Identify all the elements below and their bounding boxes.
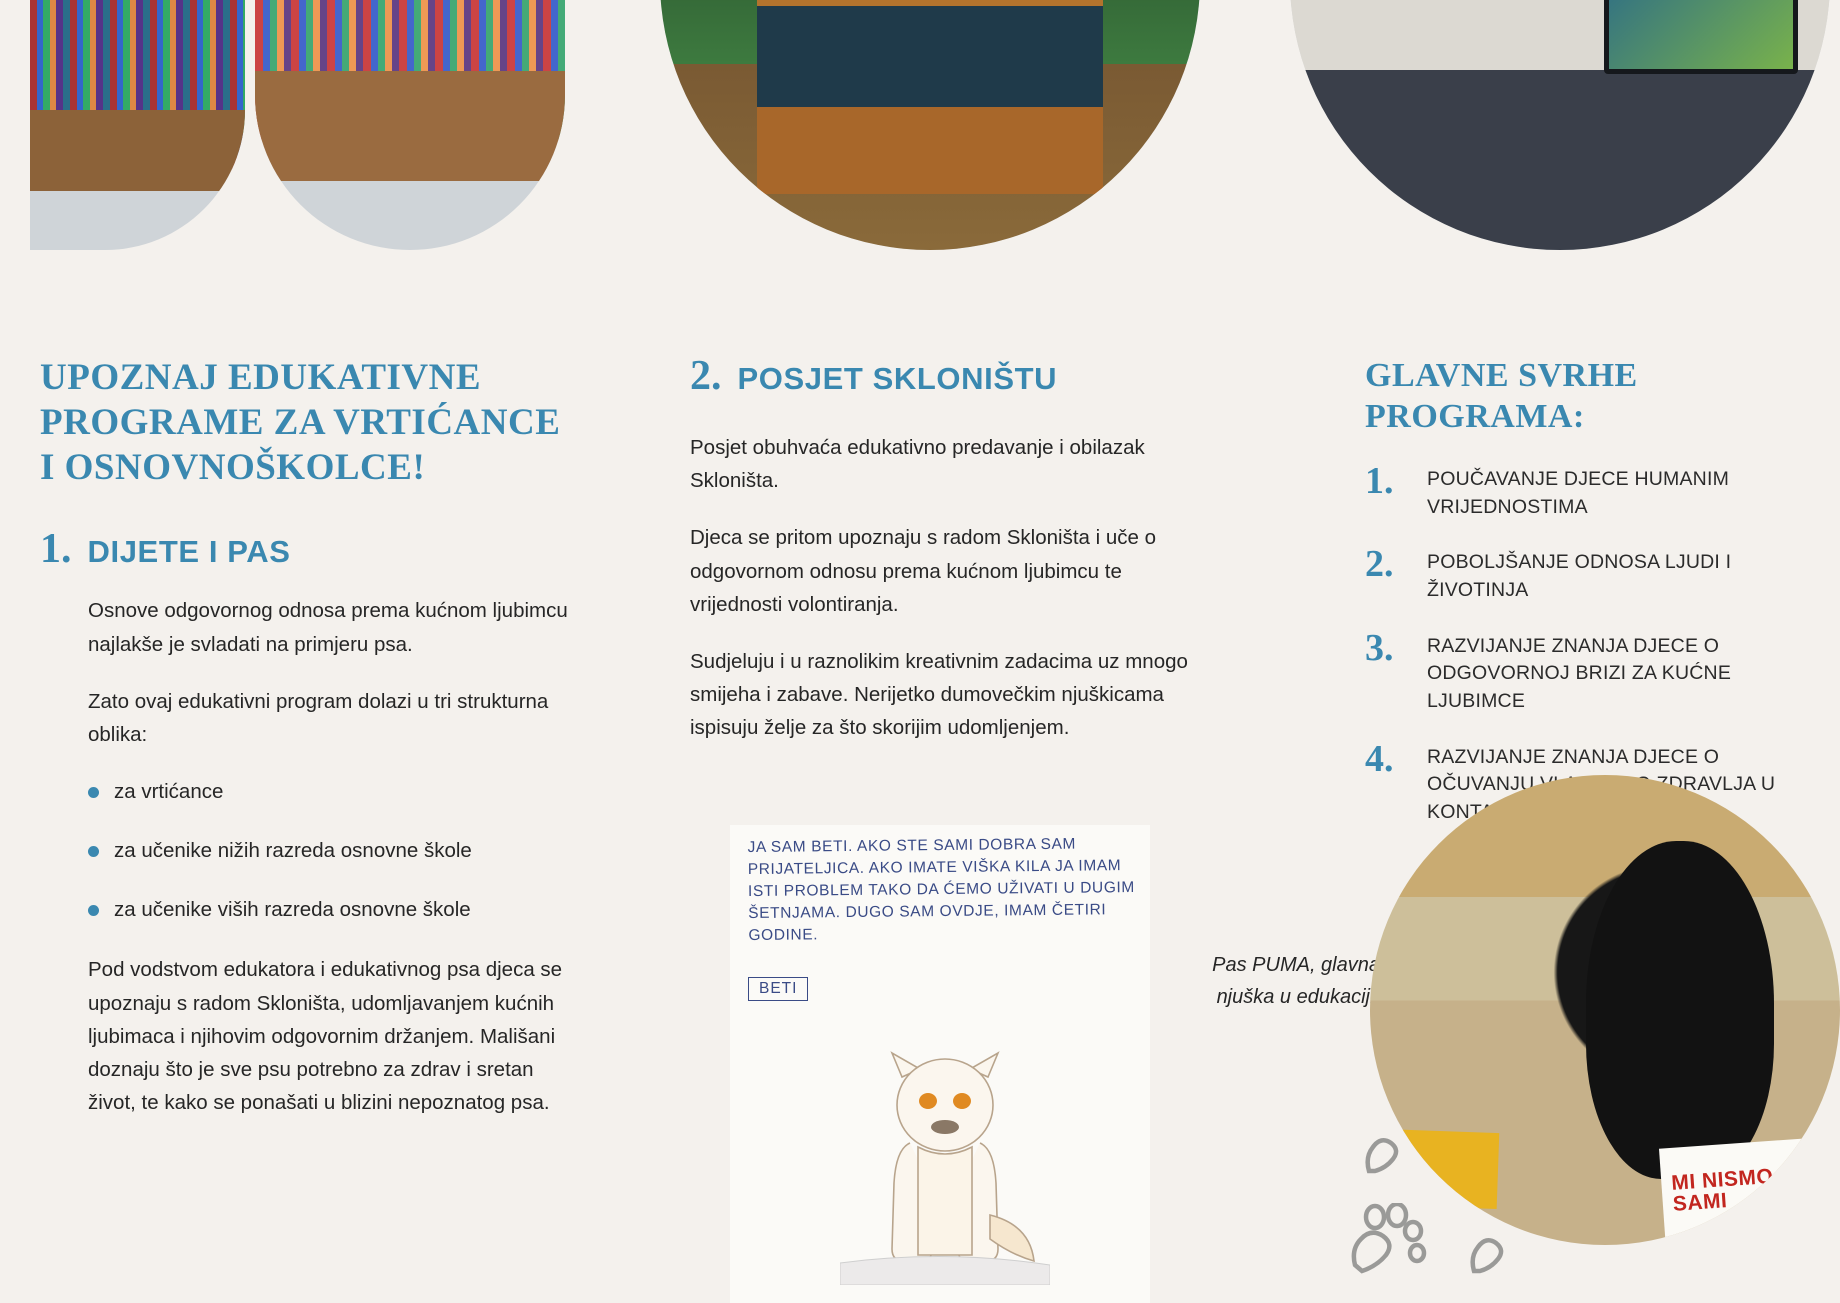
library-dog-greeting-photo bbox=[30, 0, 245, 250]
photo-band bbox=[0, 0, 1840, 300]
paragraph-djeca-se-pritom: Djeca se pritom upoznaju s radom Skloniš… bbox=[690, 521, 1210, 621]
purposes-title: GLAVNE SVRHE PROGRAMA: bbox=[1365, 355, 1825, 438]
purpose-text: POUČAVANJE DJECE HUMANIM VRIJEDNOSTIMA bbox=[1427, 460, 1825, 521]
library-lecture-image bbox=[255, 0, 565, 250]
purpose-number: 3. bbox=[1365, 627, 1413, 667]
section-number: 2. bbox=[690, 355, 722, 397]
child-drawing-beti: JA SAM BETI. AKO STE SAMI DOBRA SAM PRIJ… bbox=[730, 825, 1150, 1303]
column-purposes: GLAVNE SVRHE PROGRAMA: 1. POUČAVANJE DJE… bbox=[1365, 355, 1825, 827]
section-header-posjet-skloništu: 2. POSJET SKLONIŠTU bbox=[690, 355, 1210, 397]
purpose-item: 3. RAZVIJANJE ZNANJA DJECE O ODGOVORNOJ … bbox=[1365, 627, 1825, 716]
dog-puma-photo: MI NISMO SAMI bbox=[1370, 775, 1840, 1245]
paragraph-zato-ovaj: Zato ovaj edukativni program dolazi u tr… bbox=[40, 685, 580, 751]
column-shelter-visit: 2. POSJET SKLONIŠTU Posjet obuhvaća eduk… bbox=[690, 355, 1210, 745]
classroom-presentation-photo bbox=[1290, 0, 1830, 250]
library-dog-greeting-image bbox=[30, 0, 245, 250]
list-item: za vrtićance bbox=[88, 777, 580, 808]
book-cover-mi-nismo-sami: MI NISMO SAMI bbox=[1659, 1138, 1825, 1241]
brochure-page: UPOZNAJ EDUKATIVNE PROGRAME ZA VRTIĆANCE… bbox=[0, 0, 1840, 1303]
handwritten-note-text: JA SAM BETI. AKO STE SAMI DOBRA SAM PRIJ… bbox=[747, 833, 1140, 947]
purpose-text: POBOLJŠANJE ODNOSA LJUDI I ŽIVOTINJA bbox=[1427, 543, 1825, 604]
paragraph-osnove: Osnove odgovornog odnosa prema kućnom lj… bbox=[40, 594, 580, 660]
purpose-item: 1. POUČAVANJE DJECE HUMANIM VRIJEDNOSTIM… bbox=[1365, 460, 1825, 521]
purpose-text: RAZVIJANJE ZNANJA DJECE O ODGOVORNOJ BRI… bbox=[1427, 627, 1825, 716]
purpose-number: 2. bbox=[1365, 543, 1413, 583]
outdoor-group-hearts-photo bbox=[660, 0, 1200, 250]
list-item: za učenike viših razreda osnovne škole bbox=[88, 895, 580, 926]
handwritten-signature: BETI bbox=[748, 977, 808, 1001]
purpose-number: 4. bbox=[1365, 738, 1413, 778]
library-lecture-photo bbox=[255, 0, 565, 250]
purpose-item: 2. POBOLJŠANJE ODNOSA LJUDI I ŽIVOTINJA bbox=[1365, 543, 1825, 604]
book-title-text: MI NISMO SAMI bbox=[1671, 1162, 1824, 1215]
column-programs: UPOZNAJ EDUKATIVNE PROGRAME ZA VRTIĆANCE… bbox=[40, 355, 580, 1119]
program-forms-list: za vrtićance za učenike nižih razreda os… bbox=[40, 777, 580, 925]
drawn-dog-illustration bbox=[840, 1035, 1050, 1285]
classroom-presentation-image bbox=[1290, 0, 1830, 250]
list-item: za učenike nižih razreda osnovne škole bbox=[88, 836, 580, 867]
section-header-dijete-i-pas: 1. DIJETE I PAS bbox=[40, 528, 580, 570]
outdoor-group-hearts-image bbox=[660, 0, 1200, 250]
section-title: POSJET SKLONIŠTU bbox=[738, 361, 1058, 397]
page-title: UPOZNAJ EDUKATIVNE PROGRAME ZA VRTIĆANCE… bbox=[40, 355, 580, 490]
paragraph-posjet-obuhvaca: Posjet obuhvaća edukativno predavanje i … bbox=[690, 431, 1210, 497]
section-title: DIJETE I PAS bbox=[88, 534, 291, 570]
book-cover-yellow bbox=[1379, 1129, 1500, 1209]
purpose-number: 1. bbox=[1365, 460, 1413, 500]
section-number: 1. bbox=[40, 528, 72, 570]
puma-caption: Pas PUMA, glavna njuška u edukaciji! bbox=[1150, 950, 1380, 1013]
paragraph-sudjeluju: Sudjeluju i u raznolikim kreativnim zada… bbox=[690, 645, 1210, 745]
paragraph-pod-vodstvom: Pod vodstvom edukatora i edukativnog psa… bbox=[40, 953, 580, 1119]
